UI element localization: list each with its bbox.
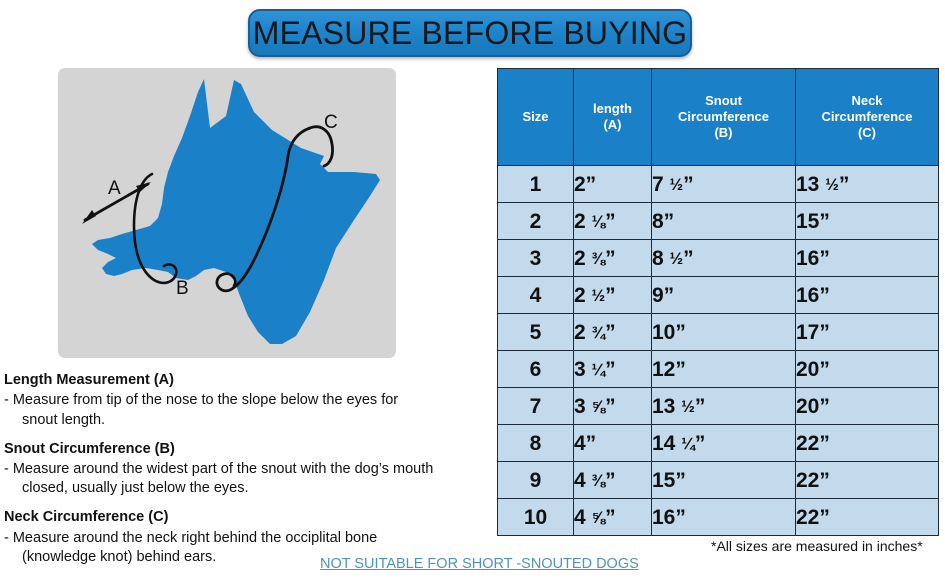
cell-neck-circumference-c: 17” xyxy=(796,314,939,351)
table-header-row: Size length (A) Snout Circumference (B) … xyxy=(498,69,939,166)
cell-snout-circumference-b: 13 ½” xyxy=(652,388,796,425)
cell-length-a: 2 ¾” xyxy=(574,314,652,351)
cell-neck-circumference-c: 13 ½” xyxy=(796,166,939,203)
size-chart-table-container: Size length (A) Snout Circumference (B) … xyxy=(497,68,938,536)
column-header-length-line1: length xyxy=(577,101,648,117)
column-header-neck-line2: Circumference xyxy=(799,109,935,125)
cell-size: 10 xyxy=(498,499,574,536)
table-row: 32 ⅜”8 ½”16” xyxy=(498,240,939,277)
column-header-neck-line1: Neck xyxy=(799,93,935,109)
cell-size: 3 xyxy=(498,240,574,277)
cell-neck-circumference-c: 22” xyxy=(796,499,939,536)
cell-size: 2 xyxy=(498,203,574,240)
column-header-length: length (A) xyxy=(574,69,652,166)
note-body-length-line1: - Measure from tip of the nose to the sl… xyxy=(4,392,398,408)
cell-snout-circumference-b: 9” xyxy=(652,277,796,314)
cell-length-a: 2 ⅜” xyxy=(574,240,652,277)
measurement-instructions: Length Measurement (A) - Measure from ti… xyxy=(4,372,489,578)
units-note: *All sizes are measured in inches* xyxy=(711,538,923,554)
cell-length-a: 4 ⅜” xyxy=(574,462,652,499)
column-header-snout-line1: Snout xyxy=(655,93,792,109)
label-b-text: B xyxy=(176,278,189,299)
cell-snout-circumference-b: 7 ½” xyxy=(652,166,796,203)
cell-neck-circumference-c: 20” xyxy=(796,388,939,425)
column-header-snout-line2: Circumference xyxy=(655,109,792,125)
cell-length-a: 4 ⅝” xyxy=(574,499,652,536)
table-body: 12”7 ½”13 ½”22 ⅛”8”15”32 ⅜”8 ½”16”42 ½”9… xyxy=(498,166,939,536)
dog-measurement-illustration: A B C xyxy=(58,68,396,358)
column-header-size: Size xyxy=(498,69,574,166)
note-snout-circumference: Snout Circumference (B) - Measure around… xyxy=(4,441,489,499)
note-body-snout-line1: - Measure around the widest part of the … xyxy=(4,461,433,477)
note-body-neck-line1: - Measure around the neck right behind t… xyxy=(4,530,377,546)
cell-length-a: 4” xyxy=(574,425,652,462)
cell-size: 5 xyxy=(498,314,574,351)
cell-length-a: 3 ¼” xyxy=(574,351,652,388)
column-header-length-line2: (A) xyxy=(577,117,648,133)
cell-size: 6 xyxy=(498,351,574,388)
table-row: 73 ⅝”13 ½”20” xyxy=(498,388,939,425)
note-heading-snout: Snout Circumference (B) xyxy=(4,441,489,458)
column-header-snout-circumference: Snout Circumference (B) xyxy=(652,69,796,166)
cell-snout-circumference-b: 16” xyxy=(652,499,796,536)
not-suitable-warning-link[interactable]: NOT SUITABLE FOR SHORT -SNOUTED DOGS xyxy=(320,556,639,572)
cell-neck-circumference-c: 22” xyxy=(796,425,939,462)
column-header-neck-circumference: Neck Circumference (C) xyxy=(796,69,939,166)
cell-snout-circumference-b: 12” xyxy=(652,351,796,388)
table-row: 42 ½”9”16” xyxy=(498,277,939,314)
cell-length-a: 2” xyxy=(574,166,652,203)
cell-size: 4 xyxy=(498,277,574,314)
cell-neck-circumference-c: 20” xyxy=(796,351,939,388)
cell-neck-circumference-c: 22” xyxy=(796,462,939,499)
cell-snout-circumference-b: 8 ½” xyxy=(652,240,796,277)
column-header-neck-line3: (C) xyxy=(799,125,935,141)
table-row: 52 ¾”10”17” xyxy=(498,314,939,351)
label-c-text: C xyxy=(324,112,338,133)
table-row: 94 ⅜”15”22” xyxy=(498,462,939,499)
cell-neck-circumference-c: 16” xyxy=(796,240,939,277)
table-row: 63 ¼”12”20” xyxy=(498,351,939,388)
cell-length-a: 3 ⅝” xyxy=(574,388,652,425)
note-body-length-line2: snout length. xyxy=(8,411,489,430)
column-header-snout-line3: (B) xyxy=(655,125,792,141)
table-row: 104 ⅝”16”22” xyxy=(498,499,939,536)
page-title: MEASURE BEFORE BUYING xyxy=(253,17,688,49)
note-length-measurement: Length Measurement (A) - Measure from ti… xyxy=(4,372,489,430)
table-row: 84”14 ¼”22” xyxy=(498,425,939,462)
cell-snout-circumference-b: 10” xyxy=(652,314,796,351)
cell-size: 1 xyxy=(498,166,574,203)
cell-size: 7 xyxy=(498,388,574,425)
page-title-banner: MEASURE BEFORE BUYING xyxy=(248,9,692,57)
label-a-text: A xyxy=(108,178,121,199)
note-body-snout: - Measure around the widest part of the … xyxy=(4,460,489,498)
note-heading-length: Length Measurement (A) xyxy=(4,372,489,389)
note-body-snout-line2: closed, usually just below the eyes. xyxy=(8,479,489,498)
cell-neck-circumference-c: 16” xyxy=(796,277,939,314)
note-body-length: - Measure from tip of the nose to the sl… xyxy=(4,391,489,429)
cell-snout-circumference-b: 14 ¼” xyxy=(652,425,796,462)
table-row: 12”7 ½”13 ½” xyxy=(498,166,939,203)
size-chart-table: Size length (A) Snout Circumference (B) … xyxy=(497,68,939,536)
column-header-size-line1: Size xyxy=(501,109,570,125)
note-heading-neck: Neck Circumference (C) xyxy=(4,509,489,526)
table-row: 22 ⅛”8”15” xyxy=(498,203,939,240)
cell-neck-circumference-c: 15” xyxy=(796,203,939,240)
cell-size: 9 xyxy=(498,462,574,499)
cell-length-a: 2 ⅛” xyxy=(574,203,652,240)
cell-length-a: 2 ½” xyxy=(574,277,652,314)
cell-snout-circumference-b: 8” xyxy=(652,203,796,240)
cell-size: 8 xyxy=(498,425,574,462)
cell-snout-circumference-b: 15” xyxy=(652,462,796,499)
